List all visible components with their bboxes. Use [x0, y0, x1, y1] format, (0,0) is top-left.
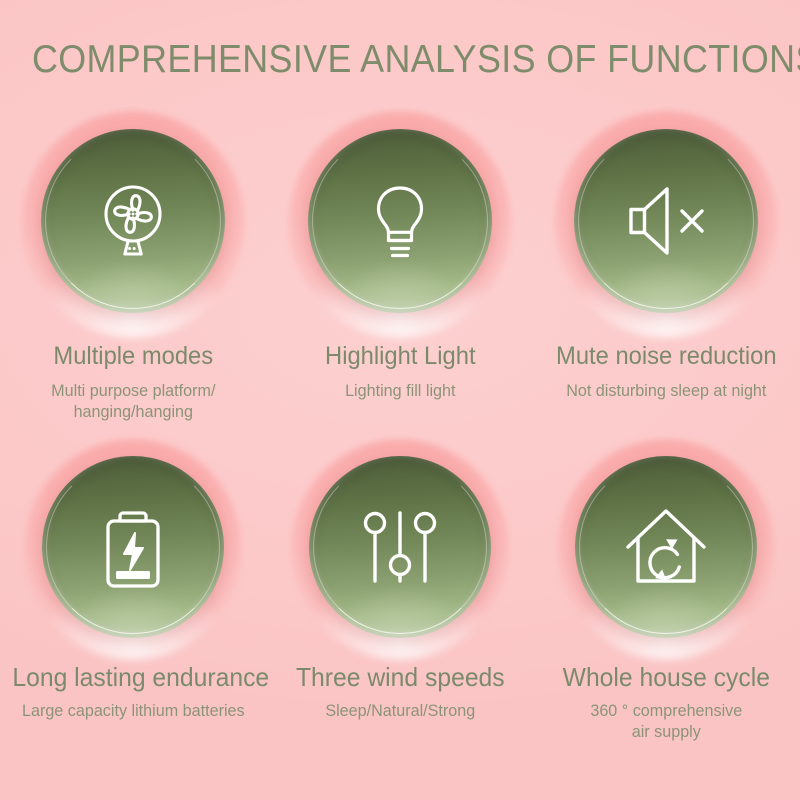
- badge-disc: [42, 456, 224, 638]
- feature-heading: Highlight Light: [279, 342, 521, 371]
- subtitle-line: hanging/hanging: [12, 402, 254, 423]
- feature-subtitle: Not disturbing sleep at night: [546, 381, 788, 402]
- feature-cell-three-wind-speeds[interactable]: Three wind speeds Sleep/Natural/Strong: [267, 448, 534, 742]
- feature-cell-mute-noise-reduction[interactable]: Mute noise reduction Not disturbing slee…: [533, 120, 800, 422]
- sliders-icon: [361, 507, 439, 587]
- badge-disc: [308, 129, 492, 313]
- caption-mute-noise-reduction: Mute noise reduction Not disturbing slee…: [533, 342, 800, 402]
- feature-row-2: Long lasting endurance Large capacity li…: [0, 448, 800, 742]
- feature-cell-whole-house-cycle[interactable]: Whole house cycle 360 ° comprehensive ai…: [533, 448, 800, 742]
- feature-grid: Multiple modes Multi purpose platform/ h…: [0, 120, 800, 743]
- feature-subtitle: Sleep/Natural/Strong: [279, 701, 521, 722]
- badge-disc: [574, 129, 758, 313]
- badge-disc: [41, 129, 225, 313]
- feature-heading: Whole house cycle: [546, 662, 788, 693]
- badge-mute-noise-reduction: [563, 120, 769, 326]
- mute-speaker-icon: [620, 181, 712, 261]
- subtitle-line: Lighting fill light: [279, 381, 521, 402]
- subtitle-line: Multi purpose platform/: [12, 381, 254, 402]
- badge-long-lasting-endurance: [33, 448, 233, 648]
- subtitle-line: Sleep/Natural/Strong: [279, 701, 521, 722]
- feature-subtitle: Large capacity lithium batteries: [12, 701, 254, 722]
- feature-subtitle: Lighting fill light: [279, 381, 521, 402]
- feature-subtitle: Multi purpose platform/ hanging/hanging: [12, 381, 254, 422]
- caption-three-wind-speeds: Three wind speeds Sleep/Natural/Strong: [267, 662, 534, 722]
- subtitle-line: air supply: [546, 722, 788, 743]
- page-title: COMPREHENSIVE ANALYSIS OF FUNCTIONS: [32, 38, 768, 82]
- badge-disc: [309, 456, 491, 638]
- subtitle-line: Large capacity lithium batteries: [12, 701, 254, 722]
- badge-whole-house-cycle: [566, 448, 766, 648]
- caption-multiple-modes: Multiple modes Multi purpose platform/ h…: [0, 342, 267, 422]
- fan-icon: [90, 178, 176, 264]
- badge-highlight-light: [297, 120, 503, 326]
- feature-cell-multiple-modes[interactable]: Multiple modes Multi purpose platform/ h…: [0, 120, 267, 422]
- infographic-page: COMPREHENSIVE ANALYSIS OF FUNCTIONS: [0, 0, 800, 800]
- caption-highlight-light: Highlight Light Lighting fill light: [267, 342, 534, 402]
- battery-charging-icon: [100, 503, 166, 591]
- feature-subtitle: 360 ° comprehensive air supply: [546, 701, 788, 742]
- lightbulb-icon: [360, 178, 440, 264]
- subtitle-line: 360 ° comprehensive: [546, 701, 788, 722]
- subtitle-line: Not disturbing sleep at night: [546, 381, 788, 402]
- feature-heading: Mute noise reduction: [546, 342, 788, 371]
- feature-heading: Three wind speeds: [279, 662, 521, 693]
- badge-multiple-modes: [30, 120, 236, 326]
- feature-row-1: Multiple modes Multi purpose platform/ h…: [0, 120, 800, 422]
- caption-long-lasting-endurance: Long lasting endurance Large capacity li…: [0, 662, 267, 722]
- caption-whole-house-cycle: Whole house cycle 360 ° comprehensive ai…: [533, 662, 800, 742]
- badge-disc: [575, 456, 757, 638]
- feature-cell-highlight-light[interactable]: Highlight Light Lighting fill light: [267, 120, 534, 422]
- feature-heading: Multiple modes: [12, 342, 254, 371]
- house-cycle-icon: [622, 505, 710, 589]
- feature-heading: Long lasting endurance: [12, 662, 254, 693]
- feature-cell-long-lasting-endurance[interactable]: Long lasting endurance Large capacity li…: [0, 448, 267, 742]
- badge-three-wind-speeds: [300, 448, 500, 648]
